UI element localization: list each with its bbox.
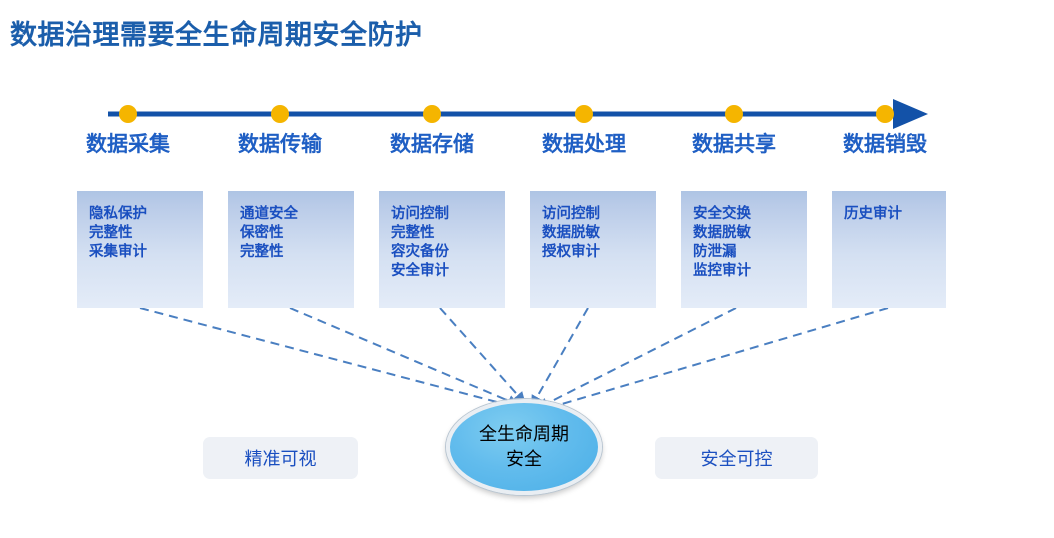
pill-label: 安全可控 bbox=[701, 445, 773, 471]
detail-item: 安全交换 bbox=[693, 205, 807, 224]
detail-box-transmission[interactable]: 通道安全 保密性 完整性 bbox=[228, 191, 354, 308]
connector-5 bbox=[540, 308, 736, 407]
timeline-dot-6 bbox=[876, 105, 894, 123]
detail-item: 防泄漏 bbox=[693, 243, 807, 262]
connector-1 bbox=[140, 308, 512, 406]
detail-box-storage[interactable]: 访问控制 完整性 容灾备份 安全审计 bbox=[379, 191, 505, 308]
detail-item: 授权审计 bbox=[542, 243, 656, 262]
timeline-dot-3 bbox=[423, 105, 441, 123]
timeline-dot-2 bbox=[271, 105, 289, 123]
timeline-dot-4 bbox=[575, 105, 593, 123]
timeline-axis bbox=[108, 105, 898, 123]
stage-label-transmission: 数据传输 bbox=[220, 130, 340, 158]
detail-item: 通道安全 bbox=[240, 205, 354, 224]
timeline-dot-5 bbox=[725, 105, 743, 123]
core-ellipse-line2: 安全 bbox=[506, 447, 542, 472]
timeline-dot-1 bbox=[119, 105, 137, 123]
stage-label-storage: 数据存储 bbox=[372, 130, 492, 158]
detail-item: 完整性 bbox=[240, 243, 354, 262]
detail-item: 采集审计 bbox=[89, 243, 203, 262]
detail-item: 完整性 bbox=[89, 224, 203, 243]
detail-box-processing[interactable]: 访问控制 数据脱敏 授权审计 bbox=[530, 191, 656, 308]
slide-canvas: 数据治理需要全生命周期安全防护 bbox=[0, 0, 1054, 538]
pill-security-controllable[interactable]: 安全可控 bbox=[655, 437, 818, 479]
pill-label: 精准可视 bbox=[245, 445, 317, 471]
detail-item: 访问控制 bbox=[542, 205, 656, 224]
detail-box-destruction[interactable]: 历史审计 bbox=[832, 191, 946, 308]
detail-box-sharing[interactable]: 安全交换 数据脱敏 防泄漏 监控审计 bbox=[681, 191, 807, 308]
core-ellipse-line1: 全生命周期 bbox=[479, 422, 569, 447]
connector-3 bbox=[440, 308, 523, 401]
stage-label-destruction: 数据销毁 bbox=[825, 130, 945, 158]
detail-box-collection[interactable]: 隐私保护 完整性 采集审计 bbox=[77, 191, 203, 308]
detail-item: 数据脱敏 bbox=[693, 224, 807, 243]
detail-item: 容灾备份 bbox=[391, 243, 505, 262]
detail-item: 安全审计 bbox=[391, 262, 505, 281]
connector-4 bbox=[533, 308, 588, 404]
detail-item: 完整性 bbox=[391, 224, 505, 243]
connector-lines bbox=[140, 308, 888, 409]
stage-label-collection: 数据采集 bbox=[68, 130, 188, 158]
connector-2 bbox=[290, 308, 516, 404]
detail-item: 隐私保护 bbox=[89, 205, 203, 224]
stage-label-sharing: 数据共享 bbox=[674, 130, 794, 158]
stage-label-processing: 数据处理 bbox=[524, 130, 644, 158]
detail-item: 历史审计 bbox=[844, 205, 946, 224]
detail-item: 访问控制 bbox=[391, 205, 505, 224]
connector-6 bbox=[545, 308, 888, 409]
detail-item: 监控审计 bbox=[693, 262, 807, 281]
detail-item: 保密性 bbox=[240, 224, 354, 243]
core-ellipse[interactable]: 全生命周期 安全 bbox=[446, 399, 602, 495]
page-title: 数据治理需要全生命周期安全防护 bbox=[10, 13, 423, 52]
pill-precise-visibility[interactable]: 精准可视 bbox=[203, 437, 358, 479]
detail-item: 数据脱敏 bbox=[542, 224, 656, 243]
